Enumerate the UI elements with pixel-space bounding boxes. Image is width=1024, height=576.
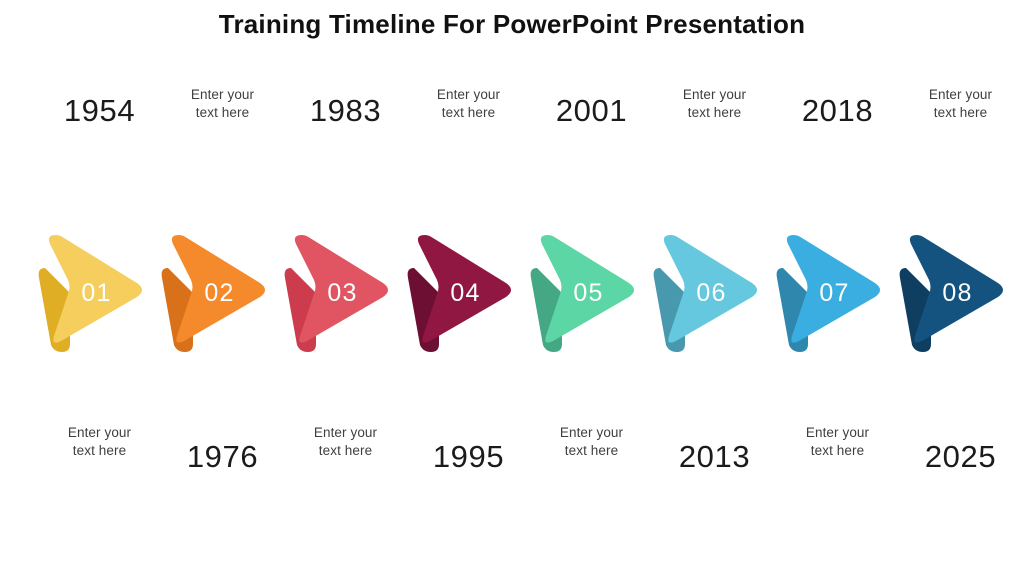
step-arrow-marker[interactable]: 01 (38, 232, 161, 354)
step-arrow-marker[interactable]: 07 (776, 232, 899, 354)
timeline-step-03[interactable]: 1983Enter yourtext here03 (284, 0, 407, 576)
arrow-icon (776, 232, 899, 354)
step-note-line1: Enter your (885, 86, 1024, 104)
timeline-step-02[interactable]: 1976Enter yourtext here02 (161, 0, 284, 576)
timeline-step-07[interactable]: 2018Enter yourtext here07 (776, 0, 899, 576)
arrow-icon (653, 232, 776, 354)
arrow-icon (161, 232, 284, 354)
timeline-step-01[interactable]: 1954Enter yourtext here01 (38, 0, 161, 576)
step-arrow-marker[interactable]: 06 (653, 232, 776, 354)
arrow-icon (530, 232, 653, 354)
timeline-step-08[interactable]: 2025Enter yourtext here08 (899, 0, 1022, 576)
step-arrow-marker[interactable]: 02 (161, 232, 284, 354)
timeline-step-06[interactable]: 2013Enter yourtext here06 (653, 0, 776, 576)
step-arrow-marker[interactable]: 03 (284, 232, 407, 354)
arrow-icon (899, 232, 1022, 354)
step-note-line2: text here (885, 104, 1024, 122)
timeline-step-05[interactable]: 2001Enter yourtext here05 (530, 0, 653, 576)
step-arrow-marker[interactable]: 04 (407, 232, 530, 354)
step-note-label: Enter yourtext here (885, 86, 1024, 122)
arrow-icon (407, 232, 530, 354)
step-arrow-marker[interactable]: 08 (899, 232, 1022, 354)
slide-canvas: Training Timeline For PowerPoint Present… (0, 0, 1024, 576)
arrow-icon (284, 232, 407, 354)
arrow-icon (38, 232, 161, 354)
step-year-label: 2025 (885, 438, 1024, 476)
step-arrow-marker[interactable]: 05 (530, 232, 653, 354)
timeline-track: 1954Enter yourtext here011976Enter yourt… (0, 0, 1024, 576)
timeline-step-04[interactable]: 1995Enter yourtext here04 (407, 0, 530, 576)
